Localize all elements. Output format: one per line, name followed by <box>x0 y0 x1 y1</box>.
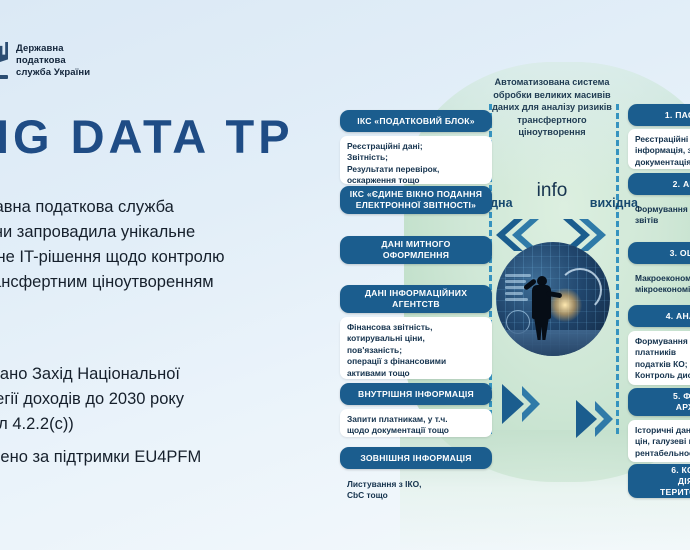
source-body-4-line-4: операції з фінансовими <box>347 356 485 367</box>
output-header-6-label: 6. КООРД ДІЯЛЬ ТЕРИТОРІАЛЬ <box>660 465 690 498</box>
output-body-5-line-3: рентабельності <box>635 448 690 459</box>
output-body-4: Формування платників податків КО; Контро… <box>628 331 690 385</box>
source-header-5-label: ВНУТРІШНЯ ІНФОРМАЦІЯ <box>358 389 474 400</box>
source-body-1-line-4: оскарження тощо <box>347 175 485 186</box>
flow-arrow-down-right-icon <box>572 398 616 440</box>
output-body-5-line-2: цін, галузеві по <box>635 436 690 447</box>
output-body-4-line-3: податків КО; <box>635 359 690 370</box>
output-body-4-line-1: Формування <box>635 336 690 347</box>
source-header-1-label: ІКС «ПОДАТКОВИЙ БЛОК» <box>357 116 475 127</box>
logo-line-2: податкова <box>16 55 90 67</box>
slide-canvas: Державна податкова служба України BIG DA… <box>0 0 690 550</box>
output-body-4-line-4: Контроль дис <box>635 370 690 381</box>
output-header-2-label: 2. АНАЛІ <box>673 179 690 190</box>
output-body-5: Історичні дані к цін, галузеві по рентаб… <box>628 420 690 462</box>
source-header-6-label: ЗОВНІШНЯ ІНФОРМАЦІЯ <box>360 453 471 464</box>
trident-emblem-icon <box>0 40 10 82</box>
output-header-1[interactable]: 1. ПАСПОРТ <box>628 104 690 126</box>
dashed-divider-right <box>616 104 619 434</box>
organization-logo: Державна податкова служба України <box>0 40 90 82</box>
output-body-3-line-1: Макроекономіч <box>635 273 690 284</box>
output-header-3[interactable]: 3. ОЦІНКА <box>628 242 690 264</box>
system-caption-line-3: даних для аналізу ризиків <box>478 101 626 114</box>
source-header-6[interactable]: ЗОВНІШНЯ ІНФОРМАЦІЯ <box>340 447 492 469</box>
output-body-5-line-1: Історичні дані к <box>635 425 690 436</box>
output-header-2[interactable]: 2. АНАЛІ <box>628 173 690 195</box>
data-analyst-silhouette-image <box>496 242 610 356</box>
output-header-3-label: 3. ОЦІНКА <box>670 248 690 259</box>
system-caption: Автоматизована система обробки великих м… <box>478 76 626 139</box>
source-header-2-label: ІКС «ЄДИНЕ ВІКНО ПОДАННЯ ЕЛЕКТРОННОЇ ЗВІ… <box>350 189 482 211</box>
source-body-6: Листування з ІКО, СbС тощо <box>340 474 492 502</box>
source-body-1-line-2: Звітність; <box>347 152 485 163</box>
output-body-3: Макроекономіч мікроекономічн <box>628 268 690 298</box>
intro-p1-line-4: за трансфертним ціноутворенням <box>0 270 224 295</box>
source-body-1-line-3: Результати перевірок, <box>347 164 485 175</box>
output-body-3-line-2: мікроекономічн <box>635 284 690 295</box>
intro-p1-line-3: сучасне IT-рішення щодо контролю <box>0 245 224 270</box>
intro-paragraph-2: Виконано Захід Національної стратегії до… <box>0 362 184 437</box>
flow-labels: вхідна вихідна <box>470 196 640 210</box>
output-header-5-label: 5. ФОРМ АРХІВУ <box>673 391 690 413</box>
source-body-4-line-5: активами тощо <box>347 368 485 379</box>
source-body-5: Запити платникам, у т.ч. щодо документац… <box>340 409 492 437</box>
source-body-4-line-3: пов'язаність; <box>347 345 485 356</box>
intro-paragraph-1: Державна податкова служба України запров… <box>0 195 224 295</box>
source-header-3-label: ДАНІ МИТНОГО ОФОРМЛЕННЯ <box>381 239 450 261</box>
source-body-4-line-1: Фінансова звітність, <box>347 322 485 333</box>
output-body-1-line-2: інформація, за <box>635 145 690 156</box>
source-body-1-line-1: Реєстраційні дані; <box>347 141 485 152</box>
source-body-4: Фінансова звітність, котирувальні ціни, … <box>340 317 492 379</box>
output-header-4[interactable]: 4. АНАЛІЗ З <box>628 305 690 327</box>
page-title: BIG DATA TP <box>0 112 294 162</box>
output-header-4-label: 4. АНАЛІЗ З <box>666 311 690 322</box>
source-body-4-line-2: котирувальні ціни, <box>347 333 485 344</box>
logo-line-1: Державна <box>16 43 90 55</box>
source-body-1: Реєстраційні дані; Звітність; Результати… <box>340 136 492 184</box>
source-header-2[interactable]: ІКС «ЄДИНЕ ВІКНО ПОДАННЯ ЕЛЕКТРОННОЇ ЗВІ… <box>340 186 492 214</box>
output-body-2: Формування а звітів <box>628 199 690 229</box>
intro-p2-line-3: (розділ 4.2.2(с)) <box>0 412 184 437</box>
system-caption-line-1: Автоматизована система <box>478 76 626 89</box>
system-caption-line-4: трансфертного <box>478 114 626 127</box>
output-header-6[interactable]: 6. КООРД ДІЯЛЬ ТЕРИТОРІАЛЬ <box>628 464 690 498</box>
source-body-6-line-1: Листування з ІКО, <box>347 479 485 490</box>
system-caption-line-2: обробки великих масивів <box>478 89 626 102</box>
intro-p2-line-2: стратегії доходів до 2030 року <box>0 387 184 412</box>
output-body-1-line-3: документація, <box>635 157 690 168</box>
output-body-1-line-1: Реєстраційні да <box>635 134 690 145</box>
output-header-1-label: 1. ПАСПОРТ <box>665 110 690 121</box>
logo-text: Державна податкова служба України <box>16 43 90 80</box>
logo-line-3: служба України <box>16 67 90 79</box>
output-header-5[interactable]: 5. ФОРМ АРХІВУ <box>628 388 690 416</box>
source-body-5-line-1: Запити платникам, у т.ч. <box>347 414 485 425</box>
source-body-6-line-2: СbС тощо <box>347 490 485 501</box>
source-header-5[interactable]: ВНУТРІШНЯ ІНФОРМАЦІЯ <box>340 383 492 405</box>
intro-p1-line-2: України запровадила унікальне <box>0 220 224 245</box>
system-caption-line-5: ціноутворення <box>478 126 626 139</box>
intro-paragraph-3: Створено за підтримки EU4PFM <box>0 445 201 470</box>
output-body-4-line-2: платників <box>635 347 690 358</box>
intro-p1-line-1: Державна податкова служба <box>0 195 224 220</box>
source-header-4[interactable]: ДАНІ ІНФОРМАЦІЙНИХ АГЕНТСТВ <box>340 285 492 313</box>
source-header-3[interactable]: ДАНІ МИТНОГО ОФОРМЛЕННЯ <box>340 236 492 264</box>
output-body-2-line-1: Формування а <box>635 204 690 215</box>
intro-p3-line-1: Створено за підтримки EU4PFM <box>0 445 201 470</box>
output-body-1: Реєстраційні да інформація, за документа… <box>628 129 690 169</box>
intro-p2-line-1: Виконано Захід Національної <box>0 362 184 387</box>
source-body-5-line-2: щодо документації тощо <box>347 425 485 436</box>
source-header-4-label: ДАНІ ІНФОРМАЦІЙНИХ АГЕНТСТВ <box>365 288 467 310</box>
flow-arrow-down-left-icon <box>498 382 544 426</box>
source-header-1[interactable]: ІКС «ПОДАТКОВИЙ БЛОК» <box>340 110 492 132</box>
output-body-2-line-2: звітів <box>635 215 690 226</box>
